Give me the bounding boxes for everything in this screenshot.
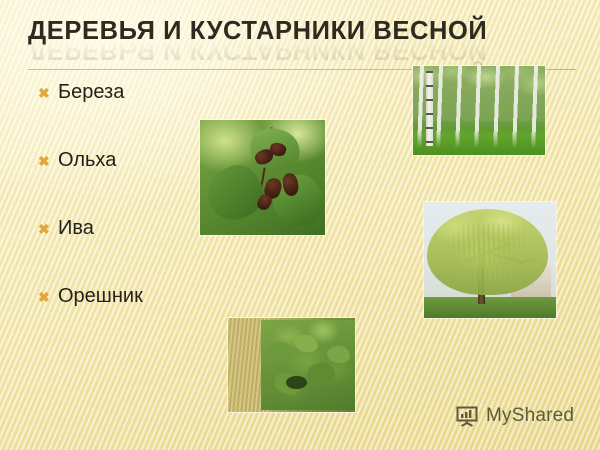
presentation-chart-icon — [455, 404, 479, 428]
presentation-slide: Деревья и кустарники весной Деревья и ку… — [0, 0, 600, 450]
myshared-watermark[interactable]: MyShared — [455, 404, 574, 428]
bullet-cross-icon: ✖ — [38, 86, 58, 100]
watermark-label: MyShared — [486, 405, 574, 427]
birch-grove-photo — [413, 66, 545, 155]
list-item: ✖ Орешник — [38, 286, 248, 354]
willow-tree-photo — [424, 202, 556, 318]
bullet-cross-icon: ✖ — [38, 290, 58, 304]
slide-title-block: Деревья и кустарники весной Деревья и ку… — [28, 14, 576, 72]
bullet-label-olha: Ольха — [58, 150, 116, 170]
bullet-label-bereza: Береза — [58, 82, 124, 102]
alder-branch-photo — [200, 120, 325, 235]
bullet-label-oreshnik: Орешник — [58, 286, 143, 306]
hazel-shrub-photo — [228, 318, 355, 412]
bullet-cross-icon: ✖ — [38, 222, 58, 236]
page-title-reflection: Деревья и кустарники весной — [28, 41, 576, 67]
bullet-cross-icon: ✖ — [38, 154, 58, 168]
bullet-label-iva: Ива — [58, 218, 94, 238]
